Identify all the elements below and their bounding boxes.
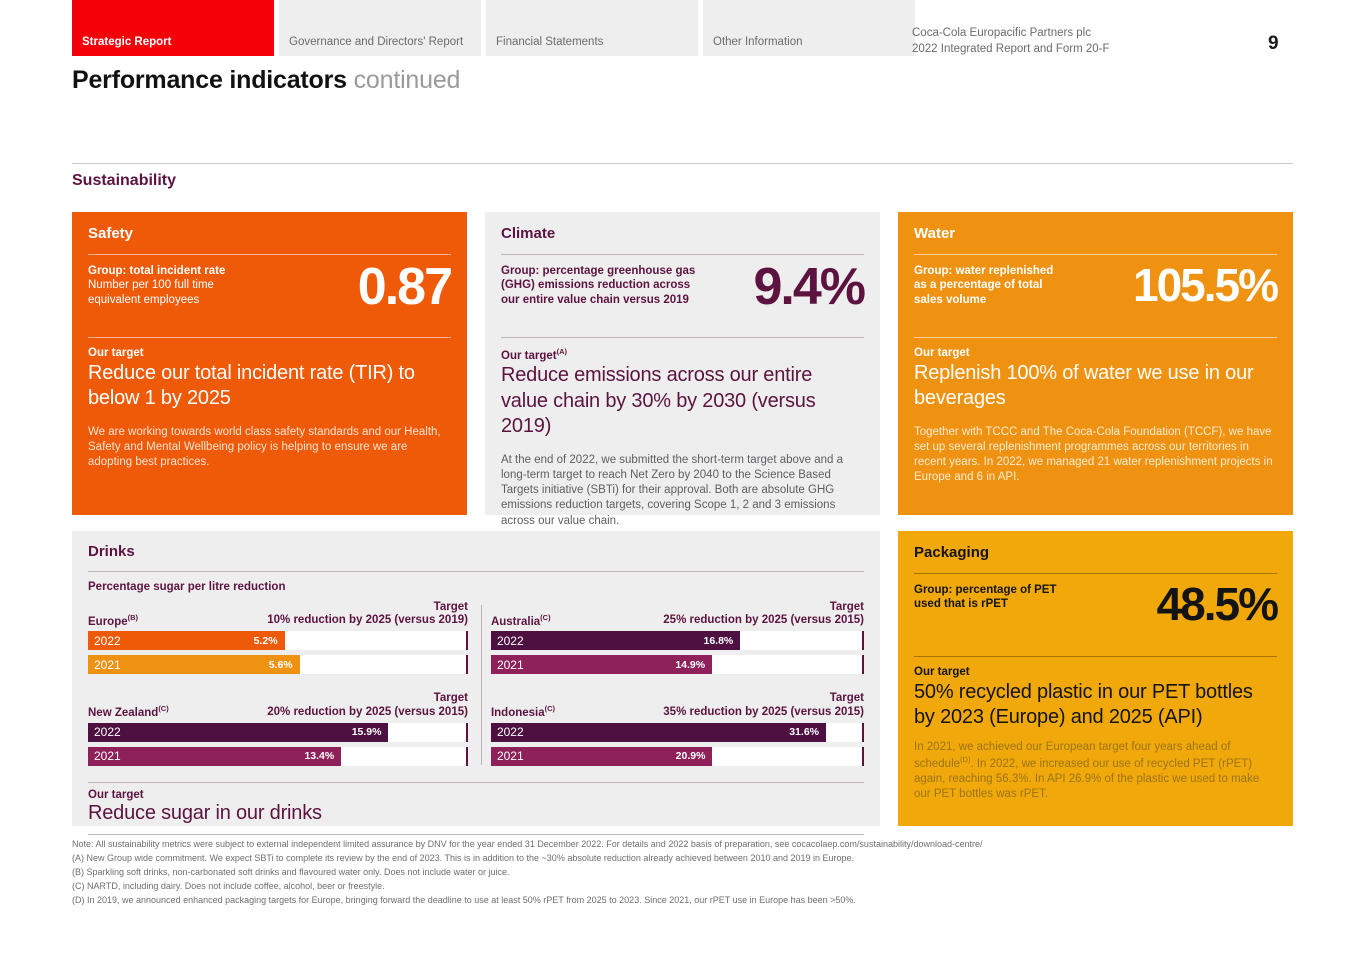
section-divider (72, 163, 1293, 164)
bar-year-label: 2022 (94, 634, 121, 648)
bar-value-label: 13.4% (304, 750, 334, 762)
tab-other-information[interactable]: Other Information (703, 0, 915, 56)
bar-year-label: 2022 (497, 634, 524, 648)
card-heading: Packaging (914, 545, 1277, 562)
target-statement: Reduce emissions across our entire value… (501, 363, 864, 439)
kpi-row: Group: total incident rate Number per 10… (88, 264, 451, 326)
kpi-label-sub1: (GHG) emissions reduction across (501, 278, 695, 293)
kpi-value: 0.87 (358, 264, 451, 312)
bar-value-label: 15.9% (352, 726, 382, 738)
drinks-subheading: Percentage sugar per litre reduction (88, 581, 864, 593)
bar-track: 2021 5.6% (88, 655, 468, 674)
divider (88, 834, 864, 835)
kpi-label-sub2: our entire value chain versus 2019 (501, 293, 695, 308)
kpi-label-sub2: sales volume (914, 293, 1053, 308)
footnote-c: (C) NARTD, including dairy. Does not inc… (72, 880, 1302, 894)
chart-target-text: 25% reduction by 2025 (versus 2015) (663, 614, 864, 626)
card-drinks: Drinks Percentage sugar per litre reduct… (72, 531, 880, 826)
card-heading: Drinks (88, 543, 864, 560)
chart-region-label: Indonesia(C) (491, 704, 555, 719)
card-water: Water Group: water replenished as a perc… (898, 212, 1293, 515)
divider (501, 254, 864, 255)
bar-year-label: 2021 (497, 749, 524, 763)
bar-year-label: 2021 (94, 658, 121, 672)
bar-track: 2022 16.8% (491, 631, 864, 650)
chart-region-label: Australia(C) (491, 613, 551, 628)
chart-header: Indonesia(C) Target 35% reduction by 202… (491, 692, 864, 718)
chart-row-2: New Zealand(C) Target 20% reduction by 2… (88, 692, 864, 765)
page-title: Performance indicators continued (72, 66, 460, 95)
kpi-label-sub2: equivalent employees (88, 293, 225, 308)
kpi-label: Group: percentage greenhouse gas (GHG) e… (501, 264, 695, 308)
bar-track: 2021 20.9% (491, 747, 864, 766)
footnote-ref-c: (C) (545, 704, 555, 713)
chart-region-label: Europe(B) (88, 613, 138, 628)
footnote-ref-c: (C) (158, 704, 168, 713)
kpi-label: Group: percentage of PET used that is rP… (914, 583, 1057, 612)
footnote-b: (B) Sparkling soft drinks, non-carbonate… (72, 866, 1302, 880)
chart-target-word: Target (267, 601, 468, 614)
target-label: Our target (914, 666, 1277, 678)
tab-label: Strategic Report (82, 36, 171, 48)
kpi-label-strong: Group: percentage greenhouse gas (501, 264, 695, 279)
chart-target-text: 10% reduction by 2025 (versus 2019) (267, 614, 468, 626)
card-safety: Safety Group: total incident rate Number… (72, 212, 467, 515)
card-body-text: Together with TCCC and The Coca-Cola Fou… (914, 425, 1277, 486)
bar-2021: 2021 13.4% (88, 747, 341, 766)
chart-indonesia: Indonesia(C) Target 35% reduction by 202… (484, 692, 864, 765)
card-heading: Water (914, 226, 1277, 243)
card-body-part2: . In 2022, we increased our use of recyc… (914, 758, 1259, 800)
divider (88, 782, 864, 783)
target-label: Our target (88, 347, 451, 359)
target-label: Our target (88, 789, 864, 801)
kpi-row: Group: water replenished as a percentage… (914, 264, 1277, 326)
chart-target-word: Target (267, 692, 468, 705)
bar-2022: 2022 31.6% (491, 723, 826, 742)
section-title-sustainability: Sustainability (72, 172, 176, 190)
bar-track: 2022 31.6% (491, 723, 864, 742)
chart-header: New Zealand(C) Target 20% reduction by 2… (88, 692, 468, 718)
footnote-note: Note: All sustainability metrics were su… (72, 838, 1302, 852)
kpi-value: 48.5% (1157, 583, 1277, 625)
target-statement: Replenish 100% of water we use in our be… (914, 361, 1277, 411)
bar-value-label: 20.9% (676, 750, 706, 762)
bar-year-label: 2022 (497, 725, 524, 739)
divider (914, 573, 1277, 574)
chart-target-label: Target 10% reduction by 2025 (versus 201… (267, 601, 468, 627)
doc-report-name: 2022 Integrated Report and Form 20-F (912, 42, 1110, 58)
bar-track: 2021 14.9% (491, 655, 864, 674)
card-heading: Climate (501, 226, 864, 243)
bar-2021: 2021 14.9% (491, 655, 712, 674)
bar-2022: 2022 15.9% (88, 723, 388, 742)
kpi-value: 9.4% (753, 264, 864, 312)
card-body-text: In 2021, we achieved our European target… (914, 740, 1277, 803)
card-packaging: Packaging Group: percentage of PET used … (898, 531, 1293, 826)
kpi-row: Group: percentage greenhouse gas (GHG) e… (501, 264, 864, 326)
footnote-ref-c: (C) (540, 613, 550, 622)
divider (88, 254, 451, 255)
bar-track: 2021 13.4% (88, 747, 468, 766)
kpi-label-sub1: Number per 100 full time (88, 278, 225, 293)
tab-financial-statements[interactable]: Financial Statements (486, 0, 698, 56)
bar-track: 2022 15.9% (88, 723, 468, 742)
bar-value-label: 5.6% (269, 659, 293, 671)
bar-year-label: 2021 (497, 658, 524, 672)
chart-target-label: Target 20% reduction by 2025 (versus 201… (267, 692, 468, 718)
chart-region-label: New Zealand(C) (88, 704, 169, 719)
target-statement: Reduce sugar in our drinks (88, 801, 864, 825)
chart-header: Europe(B) Target 10% reduction by 2025 (… (88, 601, 468, 627)
target-label-text: Our target (501, 349, 557, 361)
page-title-continued: continued (354, 66, 461, 94)
card-heading: Safety (88, 226, 451, 243)
chart-europe: Europe(B) Target 10% reduction by 2025 (… (88, 601, 468, 674)
bar-2021: 2021 5.6% (88, 655, 300, 674)
chart-header: Australia(C) Target 25% reduction by 202… (491, 601, 864, 627)
footnote-a: (A) New Group wide commitment. We expect… (72, 852, 1302, 866)
sugar-reduction-charts: Europe(B) Target 10% reduction by 2025 (… (88, 601, 864, 766)
tab-label: Governance and Directors' Report (289, 36, 463, 48)
divider (914, 656, 1277, 657)
tab-strategic-report[interactable]: Strategic Report (72, 0, 274, 56)
card-body-text: We are working towards world class safet… (88, 425, 451, 471)
divider (501, 337, 864, 338)
divider (88, 337, 451, 338)
kpi-label: Group: total incident rate Number per 10… (88, 264, 225, 308)
chart-row-1: Europe(B) Target 10% reduction by 2025 (… (88, 601, 864, 674)
chart-new-zealand: New Zealand(C) Target 20% reduction by 2… (88, 692, 468, 765)
chart-region-name: New Zealand (88, 707, 158, 719)
footnote-ref-b: (B) (128, 613, 138, 622)
tab-label: Financial Statements (496, 36, 603, 48)
doc-company-name: Coca-Cola Europacific Partners plc (912, 26, 1110, 42)
report-page: Strategic Report Governance and Director… (0, 0, 1365, 965)
kpi-label-sub1: used that is rPET (914, 597, 1057, 612)
bar-2021: 2021 20.9% (491, 747, 713, 766)
chart-target-text: 35% reduction by 2025 (versus 2015) (663, 706, 864, 718)
kpi-label-strong: Group: total incident rate (88, 264, 225, 279)
section-tabs: Strategic Report Governance and Director… (72, 0, 920, 56)
bar-track: 2022 5.2% (88, 631, 468, 650)
target-statement: Reduce our total incident rate (TIR) to … (88, 361, 451, 411)
divider (914, 254, 1277, 255)
page-title-main: Performance indicators (72, 66, 347, 94)
footnote-ref-a: (A) (557, 347, 567, 356)
tab-governance-and-directors-report[interactable]: Governance and Directors' Report (279, 0, 481, 56)
chart-target-label: Target 25% reduction by 2025 (versus 201… (663, 601, 864, 627)
chart-column-divider (481, 605, 482, 765)
bar-year-label: 2021 (94, 749, 121, 763)
bar-value-label: 16.8% (704, 635, 734, 647)
chart-target-text: 20% reduction by 2025 (versus 2015) (267, 706, 468, 718)
chart-region-name: Europe (88, 615, 128, 627)
chart-target-label: Target 35% reduction by 2025 (versus 201… (663, 692, 864, 718)
chart-row-spacer (88, 674, 864, 692)
bar-2022: 2022 5.2% (88, 631, 285, 650)
divider (914, 337, 1277, 338)
card-body-text: At the end of 2022, we submitted the sho… (501, 453, 864, 529)
card-climate: Climate Group: percentage greenhouse gas… (485, 212, 880, 515)
kpi-label-sub1: as a percentage of total (914, 278, 1053, 293)
chart-region-name: Australia (491, 615, 540, 627)
footnote-ref-d: (D) (960, 755, 970, 764)
page-number: 9 (1268, 33, 1279, 55)
chart-target-word: Target (663, 692, 864, 705)
bar-2022: 2022 16.8% (491, 631, 740, 650)
target-label: Our target (914, 347, 1277, 359)
kpi-label: Group: water replenished as a percentage… (914, 264, 1053, 308)
tab-label: Other Information (713, 36, 802, 48)
divider (88, 571, 864, 572)
bar-value-label: 5.2% (254, 635, 278, 647)
kpi-value: 105.5% (1133, 264, 1277, 306)
chart-target-word: Target (663, 601, 864, 614)
bar-value-label: 14.9% (675, 659, 705, 671)
chart-australia: Australia(C) Target 25% reduction by 202… (484, 601, 864, 674)
chart-region-name: Indonesia (491, 707, 545, 719)
document-meta: Coca-Cola Europacific Partners plc 2022 … (912, 26, 1110, 57)
bar-value-label: 31.6% (789, 726, 819, 738)
footnote-d: (D) In 2019, we announced enhanced packa… (72, 894, 1302, 908)
kpi-label-strong: Group: percentage of PET (914, 583, 1057, 598)
kpi-label-strong: Group: water replenished (914, 264, 1053, 279)
footnotes: Note: All sustainability metrics were su… (72, 838, 1302, 908)
target-label: Our target(A) (501, 347, 864, 362)
bar-year-label: 2022 (94, 725, 121, 739)
target-statement: 50% recycled plastic in our PET bottles … (914, 680, 1277, 730)
kpi-row: Group: percentage of PET used that is rP… (914, 583, 1277, 645)
